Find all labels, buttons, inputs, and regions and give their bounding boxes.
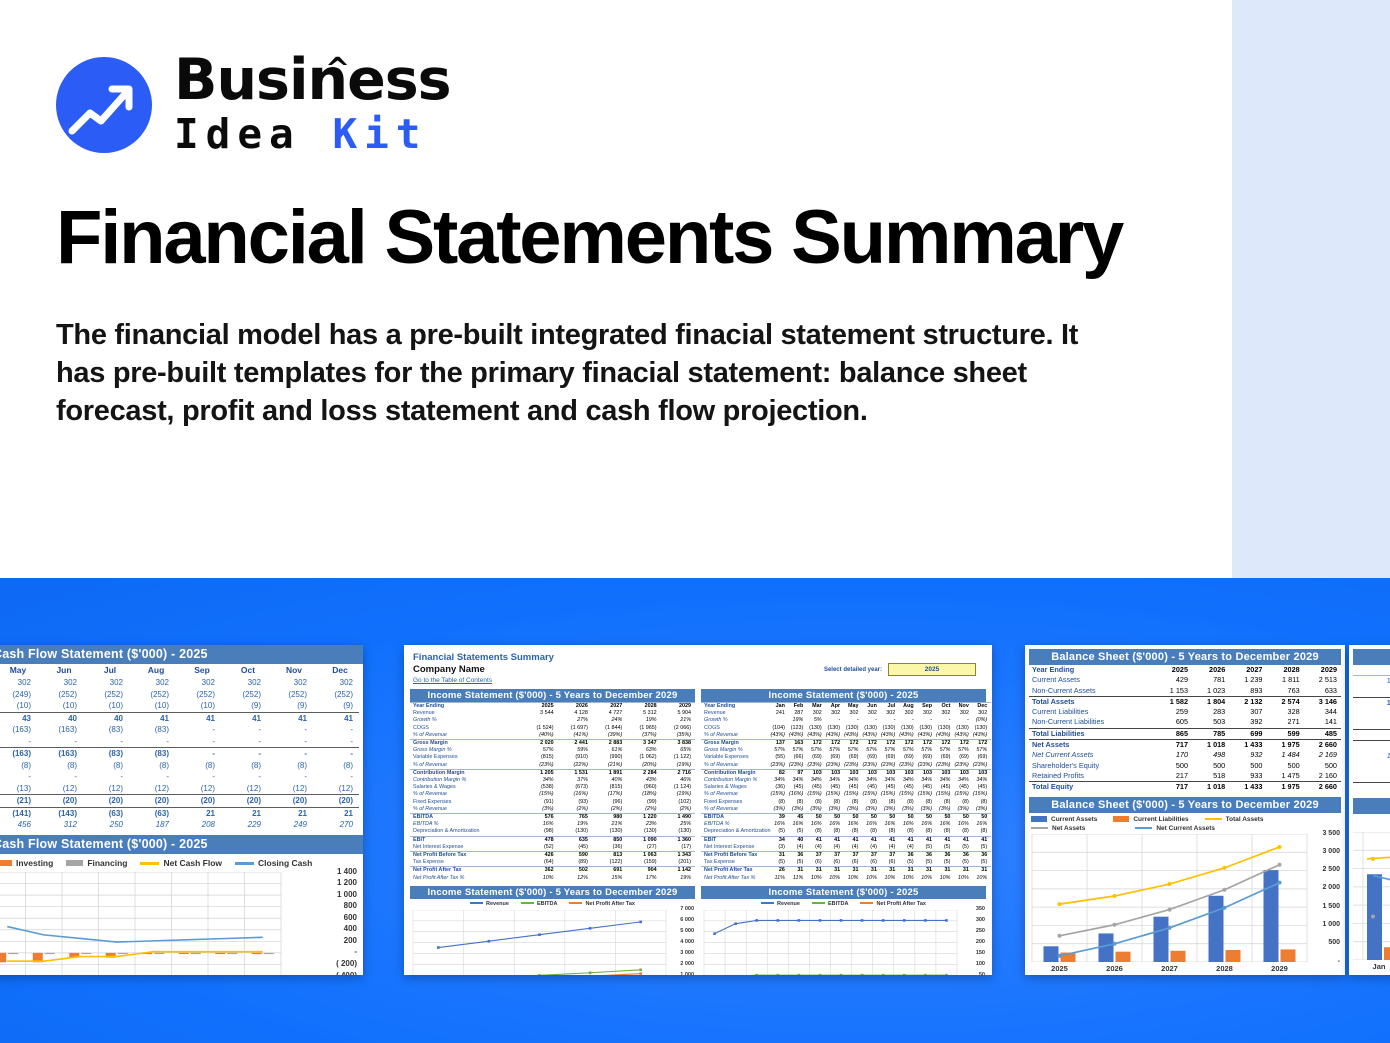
table-cell: 41	[862, 836, 880, 844]
table-cell: 16%	[826, 821, 844, 828]
table-row: EBITDA %16%16%16%16%16%16%16%16%16%16%16…	[701, 821, 991, 828]
table-cell: 2 169	[1304, 750, 1341, 760]
table-row: Net Profit Before Tax3136373737373736363…	[701, 852, 991, 860]
table-cell: (43%)	[862, 732, 880, 740]
table-cell: (8)	[771, 799, 789, 806]
table-row: Net Interest Expense(52)(45)(36)(27)(17)	[410, 844, 695, 852]
table-cell: 763	[1266, 686, 1303, 697]
table-cell: (3%)	[523, 806, 557, 814]
table-cell: (8)	[826, 799, 844, 806]
table-cell: (9)	[221, 701, 267, 710]
table-cell: 31	[844, 867, 862, 875]
table-cell: 45	[789, 814, 807, 822]
table-cell: 37	[881, 852, 899, 860]
table-cell: (8)	[918, 828, 936, 836]
y-axis-tick: 7 000	[680, 906, 694, 912]
table-cell: 19%	[789, 717, 807, 724]
row-label: EBITDA %	[410, 821, 523, 828]
table-cell: (17%)	[592, 791, 626, 798]
row-label: Current Liabilities	[1029, 707, 1155, 717]
table-cell: 362	[523, 867, 557, 875]
table-cell: 103	[899, 769, 917, 777]
table-cell: (27)	[626, 844, 660, 852]
table-cell: (20)	[37, 796, 83, 805]
row-label: Depreciation & Amortization	[410, 828, 523, 836]
row-label: Fixed Expenses	[410, 799, 523, 806]
annual-income-table-title: Income Statement ($'000) - 5 Years to De…	[410, 689, 695, 702]
table-cell: (5)	[936, 859, 954, 867]
table-cell: 65%	[661, 747, 695, 754]
table-cell: 103	[826, 769, 844, 777]
table-cell: 16%	[936, 821, 954, 828]
table-cell: 4 727	[592, 710, 626, 717]
table-cell: (6)	[881, 859, 899, 867]
year-selector[interactable]: Select detailed year: 2025	[824, 663, 976, 676]
table-cell: -	[267, 725, 313, 734]
table-cell: (15%)	[862, 791, 880, 798]
table-cell: (43%)	[789, 732, 807, 740]
table-cell: (5)	[954, 859, 972, 867]
table-cell: (538)	[523, 784, 557, 791]
month-header: Jun	[41, 665, 87, 675]
brand-name-secondary: Idea Kit	[174, 110, 451, 158]
table-cell: (69)	[973, 754, 991, 761]
table-cell: 2 883	[592, 740, 626, 748]
table-cell: -	[899, 717, 917, 724]
row-label: Tax Expense	[701, 859, 771, 867]
table-cell: 16%	[881, 821, 899, 828]
table-cell: -	[826, 717, 844, 724]
table-cell: 302	[0, 678, 37, 687]
table-cell: 21%	[661, 717, 695, 724]
y-axis-tick: 200	[344, 936, 357, 945]
table-cell: 39	[771, 814, 789, 822]
table-cell: 31	[973, 867, 991, 875]
table-cell: (5)	[954, 844, 972, 852]
table-cell: 2025	[523, 703, 557, 711]
far-right-chart-plot: Jan	[1353, 832, 1390, 975]
row-label: COGS	[701, 725, 771, 732]
table-cell: 36	[954, 852, 972, 860]
table-cell: (15%)	[826, 791, 844, 798]
table-row: Jan	[1353, 665, 1390, 676]
table-cell: (20)	[129, 796, 175, 805]
table-cell: 16%	[789, 821, 807, 828]
table-cell: 103	[954, 769, 972, 777]
table-cell: -	[267, 737, 313, 746]
table-cell: 16%	[918, 821, 936, 828]
table-cell: 34%	[807, 777, 825, 784]
row-label: Contribution Margin	[701, 769, 771, 777]
table-cell: 4 128	[558, 710, 592, 717]
table-cell: (8)	[899, 799, 917, 806]
table-cell: 1 343	[661, 852, 695, 860]
table-row: 512	[1353, 783, 1390, 794]
table-cell: 2 132	[1229, 696, 1266, 707]
row-label: Retained Profits	[1029, 771, 1155, 782]
table-cell: 103	[881, 769, 899, 777]
table-cell: 34%	[973, 777, 991, 784]
table-cell: 518	[1192, 771, 1229, 782]
table-cell: 1 490	[661, 814, 695, 822]
table-cell: 40	[37, 714, 83, 723]
table-cell: 10%	[844, 875, 862, 882]
table-row: 692	[1353, 718, 1390, 729]
table-cell: 172	[954, 740, 972, 748]
row-label: Total Equity	[1029, 782, 1155, 793]
table-cell: 37	[826, 852, 844, 860]
table-cell: 21	[267, 809, 313, 818]
table-cell: -	[221, 725, 267, 734]
y-axis-tick: 200	[976, 939, 985, 945]
y-axis-tick: 1 000	[337, 890, 357, 899]
table-cell: Jan	[771, 703, 789, 711]
row-label: Gross Margin %	[701, 747, 771, 754]
row-label: EBIT	[701, 836, 771, 844]
table-cell: (43%)	[899, 732, 917, 740]
annual-income-chart-legend: RevenueEBITDANet Profit After Tax	[410, 899, 695, 908]
table-cell: (8)	[881, 828, 899, 836]
table-row: Net Interest Expense(3)(4)(4)(4)(4)(4)(4…	[701, 844, 991, 852]
x-axis-labels: 20252026202720282029	[1032, 964, 1307, 973]
table-cell: (8)	[807, 799, 825, 806]
table-cell: 137	[771, 740, 789, 748]
table-cell: 302	[221, 678, 267, 687]
table-cell: 1 205	[523, 769, 557, 777]
table-cell: May	[844, 703, 862, 711]
table-cell: (99)	[626, 799, 660, 806]
row-label: COGS	[410, 725, 523, 732]
table-cell: (21)	[0, 796, 37, 805]
table-cell: (1 965)	[626, 725, 660, 732]
table-cell: (1 062)	[626, 754, 660, 761]
y-axis-tick: 1 000	[1322, 921, 1340, 928]
table-cell: (69)	[954, 754, 972, 761]
table-cell: (35%)	[661, 732, 695, 740]
table-cell: (8)	[954, 799, 972, 806]
table-cell: (9)	[267, 701, 313, 710]
table-cell: (15%)	[807, 791, 825, 798]
table-cell: (8)	[881, 799, 899, 806]
table-cell: 512	[1353, 741, 1390, 752]
table-cell: 692	[1353, 718, 1390, 729]
table-cell: (15%)	[523, 791, 557, 798]
table-row: Net Profit After Tax %10%12%15%17%19%	[410, 875, 695, 882]
table-cell: (10)	[83, 701, 129, 710]
table-cell: (8)	[936, 828, 954, 836]
cash-flow-month-headers: MayJunJulAugSepOctNovDec	[0, 664, 363, 675]
row-label: Net Profit Before Tax	[410, 852, 523, 860]
table-cell: (23%)	[918, 762, 936, 770]
table-cell: 2 513	[1304, 675, 1341, 685]
table-cell: -	[862, 717, 880, 724]
table-cell: 500	[1353, 762, 1390, 772]
legend-item: Net Profit After Tax	[860, 901, 926, 907]
table-cell: 2026	[558, 703, 592, 711]
table-cell: (10)	[129, 701, 175, 710]
y-axis-tick: 50	[979, 972, 985, 975]
table-cell: (20)	[83, 796, 129, 805]
table-cell: (83)	[83, 749, 129, 758]
table-of-contents-link[interactable]: Go to the Table of Contents	[413, 677, 992, 684]
table-row: 4340404141414141	[0, 712, 359, 725]
table-cell: 2027	[592, 703, 626, 711]
table-cell: (63)	[129, 809, 175, 818]
table-cell: (8)	[83, 761, 129, 770]
table-cell: (45)	[558, 844, 592, 852]
table-cell: 34%	[789, 777, 807, 784]
workbook-title: Financial Statements Summary	[413, 652, 992, 663]
table-cell: 103	[918, 769, 936, 777]
row-label: Revenue	[701, 710, 771, 717]
table-row: Contribution Margin %34%37%40%43%46%	[410, 777, 695, 784]
table-cell: (5)	[789, 828, 807, 836]
legend-item: Financing	[66, 858, 127, 868]
legend-item: Total Assets	[1205, 816, 1264, 823]
table-row: Gross Margin %57%57%57%57%57%57%57%57%57…	[701, 747, 991, 754]
table-cell: 57%	[954, 747, 972, 754]
table-cell: (8)	[918, 799, 936, 806]
table-cell: (69)	[807, 754, 825, 761]
table-cell: 31	[954, 867, 972, 875]
table-cell: (69)	[862, 754, 880, 761]
table-cell: (252)	[129, 690, 175, 699]
table-row: % of Revenue(43%)(43%)(43%)(43%)(43%)(43…	[701, 732, 991, 740]
table-cell: (104)	[771, 725, 789, 732]
row-label: Net Profit After Tax %	[701, 875, 771, 882]
table-cell: 1 531	[558, 769, 592, 777]
table-cell: (130)	[592, 828, 626, 836]
table-row: Contribution Margin1 2051 5311 8912 2842…	[410, 769, 695, 777]
table-cell: 312	[37, 820, 83, 829]
table-cell: 57%	[826, 747, 844, 754]
month-header: May	[0, 665, 41, 675]
table-cell: (163)	[37, 749, 83, 758]
table-cell: 41	[221, 714, 267, 723]
y-axis-tick: 6 000	[680, 917, 694, 923]
right-tint-panel	[1232, 0, 1390, 578]
table-cell: 34	[771, 836, 789, 844]
monthly-income-chart-plot: 35030025020015010050-JanFebMarAprMayJunJ…	[701, 910, 986, 975]
table-cell: (69)	[899, 754, 917, 761]
table-row: % of Revenue(3%)(2%)(2%)(2%)(2%)	[410, 806, 695, 814]
table-cell: 97	[789, 769, 807, 777]
table-cell: 26	[771, 867, 789, 875]
table-cell: 172	[918, 740, 936, 748]
table-cell: (64)	[523, 859, 557, 867]
table-row: Growth %19%5%--------(0%)	[701, 717, 991, 724]
table-cell: 786	[1353, 729, 1390, 740]
row-label: Net Profit After Tax	[410, 867, 523, 875]
y-axis-tick: 1 000	[680, 972, 694, 975]
table-cell: (23%)	[862, 762, 880, 770]
table-cell: 16%	[973, 821, 991, 828]
table-cell: 502	[558, 867, 592, 875]
table-cell: 217	[1155, 771, 1192, 782]
row-label: Non-Current Liabilities	[1029, 717, 1155, 728]
legend-line	[1205, 818, 1222, 821]
table-cell: (3%)	[881, 806, 899, 814]
table-cell: -	[313, 737, 359, 746]
legend-line	[521, 902, 534, 904]
table-cell: 302	[826, 710, 844, 717]
table-cell: (66)	[789, 754, 807, 761]
table-cell: 307	[1229, 707, 1266, 717]
table-cell: 302	[899, 710, 917, 717]
table-row: Fixed Expenses(91)(93)(96)(99)(102)	[410, 799, 695, 806]
table-cell: (102)	[661, 799, 695, 806]
table-cell: (20)	[313, 796, 359, 805]
table-cell: (45)	[826, 784, 844, 791]
table-cell: (4)	[789, 844, 807, 852]
legend-line	[569, 902, 582, 904]
table-cell: 1 153	[1155, 686, 1192, 697]
table-cell: (815)	[523, 754, 557, 761]
table-cell: 932	[1229, 750, 1266, 760]
table-cell: 50	[936, 814, 954, 822]
table-cell: (815)	[592, 784, 626, 791]
row-label: Revenue	[410, 710, 523, 717]
balance-sheet-chart-legend: Current AssetsCurrent LiabilitiesTotal A…	[1025, 813, 1345, 832]
table-cell: 57%	[523, 747, 557, 754]
row-label: Salaries & Wages	[701, 784, 771, 791]
screenshot-cash-flow-panel[interactable]: Cash Flow Statement ($'000) - 2025 MayJu…	[0, 645, 363, 975]
table-cell: (8)	[175, 761, 221, 770]
table-cell: (163)	[0, 749, 37, 758]
table-cell: (15%)	[771, 791, 789, 798]
table-cell: (3)	[771, 844, 789, 852]
table-cell: 1 239	[1229, 675, 1266, 685]
table-cell: 36	[899, 852, 917, 860]
row-label: Variable Expenses	[701, 754, 771, 761]
brand-name-primary: Business ^	[174, 52, 451, 108]
table-cell: (5)	[918, 859, 936, 867]
table-cell: (43%)	[881, 732, 899, 740]
table-cell: (98)	[523, 828, 557, 836]
table-cell: (43%)	[771, 732, 789, 740]
table-cell: (673)	[558, 784, 592, 791]
table-cell: 2028	[1266, 665, 1303, 675]
table-cell: 50	[899, 814, 917, 822]
table-cell: (45)	[899, 784, 917, 791]
table-cell: (8)	[973, 799, 991, 806]
table-row: Total Equity7171 0181 4331 9752 660	[1029, 782, 1341, 793]
table-cell: 57%	[807, 747, 825, 754]
monthly-income-table-title: Income Statement ($'000) - 2025	[701, 689, 986, 702]
table-cell: 500	[1266, 761, 1303, 771]
table-cell: (23%)	[771, 762, 789, 770]
table-cell: (8)	[267, 761, 313, 770]
cash-flow-chart-plot: 1 4001 2001 000800600400200-( 200)( 400)…	[0, 872, 359, 976]
table-cell: 208	[175, 820, 221, 829]
table-row: (141)(143)(63)(63)21212121	[0, 807, 359, 820]
table-cell: (5)	[973, 844, 991, 852]
table-cell: 31	[881, 867, 899, 875]
row-label: % of Revenue	[701, 762, 771, 770]
table-cell: 1 023	[1192, 686, 1229, 697]
table-cell: 23%	[626, 821, 660, 828]
table-cell: 16%	[807, 821, 825, 828]
legend-line	[235, 862, 254, 865]
table-cell: (23%)	[881, 762, 899, 770]
row-label: Contribution Margin %	[701, 777, 771, 784]
table-cell: (15%)	[936, 791, 954, 798]
table-row: Net Profit After Tax %11%11%10%10%10%10%…	[701, 875, 991, 882]
table-cell: (16%)	[789, 791, 807, 798]
table-cell: (3%)	[973, 806, 991, 814]
table-cell: 37%	[558, 777, 592, 784]
table-cell: (43%)	[826, 732, 844, 740]
y-axis-tick: 5 000	[680, 928, 694, 934]
table-cell: 302	[881, 710, 899, 717]
screenshot-balance-sheet-monthly-panel[interactable]: Jan1 1741241 297936927865121 08150012512…	[1349, 645, 1390, 975]
table-cell: 2028	[626, 703, 660, 711]
row-label: Net Profit Before Tax	[701, 852, 771, 860]
table-row: % of Revenue(23%)(22%)(21%)(20%)(19%)	[410, 762, 695, 770]
table-cell: 980	[592, 814, 626, 822]
y-axis-tick: 3 000	[680, 950, 694, 956]
year-selector-input[interactable]: 2025	[888, 663, 976, 676]
table-cell: 271	[1266, 717, 1303, 728]
table-cell: (3%)	[936, 806, 954, 814]
table-cell: (13)	[0, 784, 37, 793]
table-cell: (252)	[37, 690, 83, 699]
row-label: Net Profit After Tax	[701, 867, 771, 875]
table-cell: 1 582	[1155, 696, 1192, 707]
table-cell: 10%	[807, 875, 825, 882]
table-cell: (15%)	[844, 791, 862, 798]
cash-flow-chart-legend: InvestingFinancingNet Cash FlowClosing C…	[0, 854, 363, 870]
table-cell: 57%	[789, 747, 807, 754]
table-row: 302302302302302302302302	[0, 677, 359, 689]
screenshot-income-statement-panel[interactable]: Financial Statements Summary Company Nam…	[404, 645, 992, 975]
table-cell: 31	[826, 867, 844, 875]
table-cell: (6)	[807, 859, 825, 867]
table-row: 1 081	[1353, 751, 1390, 761]
table-row: Net Profit After Tax3625026919041 142	[410, 867, 695, 875]
table-cell: (130)	[661, 828, 695, 836]
table-row: Fixed Expenses(8)(8)(8)(8)(8)(8)(8)(8)(8…	[701, 799, 991, 806]
table-cell: 50	[807, 814, 825, 822]
table-cell: 19%	[626, 717, 660, 724]
row-label: % of Revenue	[410, 806, 523, 814]
screenshot-balance-sheet-panel[interactable]: Balance Sheet ($'000) - 5 Years to Decem…	[1025, 645, 1345, 975]
table-cell: (130)	[918, 725, 936, 732]
table-cell: (249)	[0, 690, 37, 699]
table-cell: 2 660	[1304, 782, 1341, 793]
legend-swatch	[0, 860, 12, 866]
table-cell: 40	[83, 714, 129, 723]
table-cell: (93)	[558, 799, 592, 806]
row-label: % of Revenue	[410, 732, 523, 740]
row-label: Net Assets	[1029, 740, 1155, 751]
trending-up-arrow-icon	[56, 57, 152, 153]
table-cell: (1 697)	[558, 725, 592, 732]
legend-line	[1031, 827, 1048, 830]
table-row: Net Assets7171 0181 4331 9752 660	[1029, 740, 1341, 751]
table-cell: 10%	[862, 875, 880, 882]
table-cell: 1 433	[1229, 740, 1266, 751]
table-cell: (41%)	[558, 732, 592, 740]
table-cell: (15%)	[899, 791, 917, 798]
table-cell: 21	[221, 809, 267, 818]
table-cell: 2 716	[661, 769, 695, 777]
row-label: EBIT	[410, 836, 523, 844]
table-cell: (8)	[807, 828, 825, 836]
table-cell: (6)	[862, 859, 880, 867]
table-cell: (8)	[844, 828, 862, 836]
table-cell: 172	[862, 740, 880, 748]
